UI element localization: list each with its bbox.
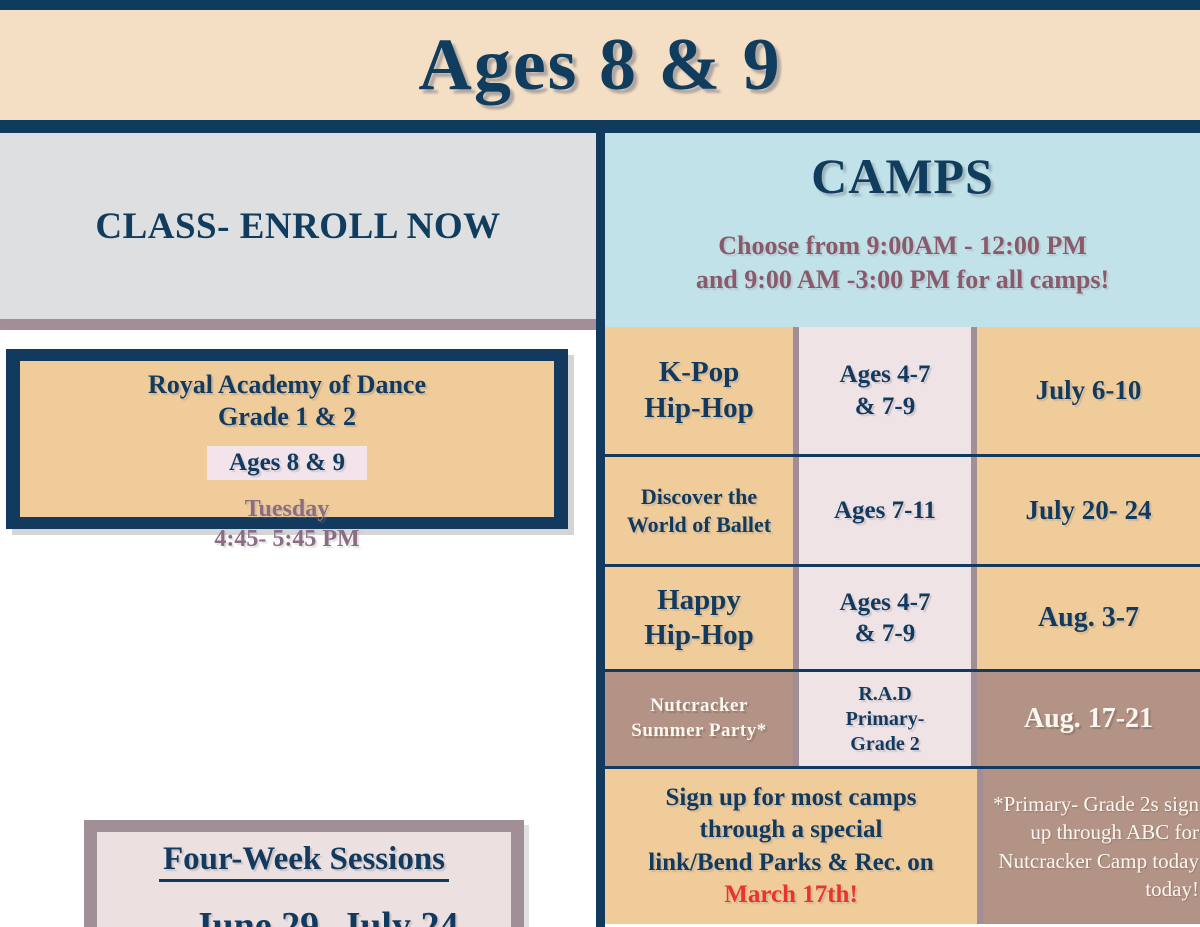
camps-subtitle-line2: and 9:00 AM -3:00 PM for all camps! — [696, 265, 1109, 294]
class-card-time: 4:45- 5:45 PM — [214, 526, 359, 552]
sessions-card-dates: June 29- July 24 July 27- Aug. 21 — [194, 904, 459, 927]
footnote-cell: *Primary- Grade 2s sign up through ABC f… — [983, 769, 1200, 924]
class-card-schedule: Tuesday 4:45- 5:45 PM — [214, 494, 359, 554]
sessions-date-line1: June 29- July 24 — [194, 905, 459, 927]
signup-deadline-date: March 17th! — [648, 879, 933, 912]
camp-name-line2: Summer Party* — [631, 720, 766, 741]
top-navy-bar — [0, 0, 1200, 10]
sessions-card-title: Four-Week Sessions — [159, 841, 449, 882]
camp-ages-cell: Ages 7-11 — [799, 457, 977, 564]
camp-dates-cell: Aug. 3-7 — [977, 567, 1200, 669]
camp-name-cell: Discover the World of Ballet — [605, 457, 799, 564]
camp-dates-cell: July 6-10 — [977, 327, 1200, 454]
signup-instructions-text: Sign up for most camps through a special… — [648, 782, 933, 912]
camps-table: K-Pop Hip-Hop Ages 4-7 & 7-9 July 6-10 D… — [605, 327, 1200, 927]
camp-ages-cell: R.A.D Primary- Grade 2 — [799, 672, 977, 766]
class-card-title-line1: Royal Academy of Dance — [148, 370, 426, 399]
table-row: K-Pop Hip-Hop Ages 4-7 & 7-9 July 6-10 — [605, 327, 1200, 457]
camps-subtitle: Choose from 9:00AM - 12:00 PM and 9:00 A… — [696, 229, 1109, 297]
camp-name-line1: Happy — [657, 584, 741, 616]
table-row: Nutcracker Summer Party* R.A.D Primary- … — [605, 672, 1200, 769]
class-card-rad: Royal Academy of Dance Grade 1 & 2 Ages … — [6, 349, 568, 529]
signup-instructions-cell: Sign up for most camps through a special… — [605, 769, 983, 924]
footnote-text: *Primary- Grade 2s sign up through ABC f… — [987, 790, 1199, 903]
class-card-rad-inner: Royal Academy of Dance Grade 1 & 2 Ages … — [20, 361, 554, 517]
camp-name-line2: Hip-Hop — [644, 619, 754, 651]
camp-ages-cell: Ages 4-7 & 7-9 — [799, 327, 977, 454]
page-title: Ages 8 & 9 — [418, 28, 781, 102]
camps-section-header: CAMPS Choose from 9:00AM - 12:00 PM and … — [605, 133, 1200, 327]
camp-dates-cell: Aug. 17-21 — [977, 672, 1200, 766]
camp-name-line1: Discover the — [641, 484, 757, 509]
camp-ages-cell: Ages 4-7 & 7-9 — [799, 567, 977, 669]
camp-name-line2: World of Ballet — [627, 512, 771, 537]
class-card-ages-badge: Ages 8 & 9 — [207, 446, 367, 480]
camp-name-line1: Nutcracker — [650, 695, 748, 716]
flyer-page: Ages 8 & 9 CLASS- ENROLL NOW Royal Acade… — [0, 0, 1200, 927]
sessions-card: Four-Week Sessions June 29- July 24 July… — [84, 820, 524, 927]
signup-line1: Sign up for most camps — [666, 784, 917, 811]
camps-subtitle-line1: Choose from 9:00AM - 12:00 PM — [718, 231, 1087, 260]
table-row: Happy Hip-Hop Ages 4-7 & 7-9 Aug. 3-7 — [605, 567, 1200, 672]
camps-panel: CAMPS Choose from 9:00AM - 12:00 PM and … — [605, 133, 1200, 927]
column-divider — [596, 120, 605, 927]
class-section-title: CLASS- ENROLL NOW — [95, 205, 500, 248]
table-row: Sign up for most camps through a special… — [605, 769, 1200, 924]
camp-name-cell: K-Pop Hip-Hop — [605, 327, 799, 454]
page-header-band: Ages 8 & 9 — [0, 10, 1200, 120]
class-section-header: CLASS- ENROLL NOW — [0, 133, 596, 319]
signup-line3: link/Bend Parks & Rec. on — [648, 849, 933, 876]
table-row: Discover the World of Ballet Ages 7-11 J… — [605, 457, 1200, 567]
camps-section-title: CAMPS — [811, 147, 994, 205]
camp-name-cell: Nutcracker Summer Party* — [605, 672, 799, 766]
signup-line2: through a special — [700, 816, 883, 843]
class-header-divider — [0, 319, 596, 330]
camp-name-line1: K-Pop — [659, 356, 740, 388]
class-panel: CLASS- ENROLL NOW Royal Academy of Dance… — [0, 133, 596, 927]
camp-name-line2: Hip-Hop — [644, 392, 754, 424]
camp-dates-cell: July 20- 24 — [977, 457, 1200, 564]
camp-name-cell: Happy Hip-Hop — [605, 567, 799, 669]
class-card-title-line2: Grade 1 & 2 — [218, 402, 356, 431]
class-card-day: Tuesday — [245, 496, 330, 522]
class-card-title: Royal Academy of Dance Grade 1 & 2 — [148, 369, 426, 432]
sessions-card-inner: Four-Week Sessions June 29- July 24 July… — [97, 832, 511, 927]
